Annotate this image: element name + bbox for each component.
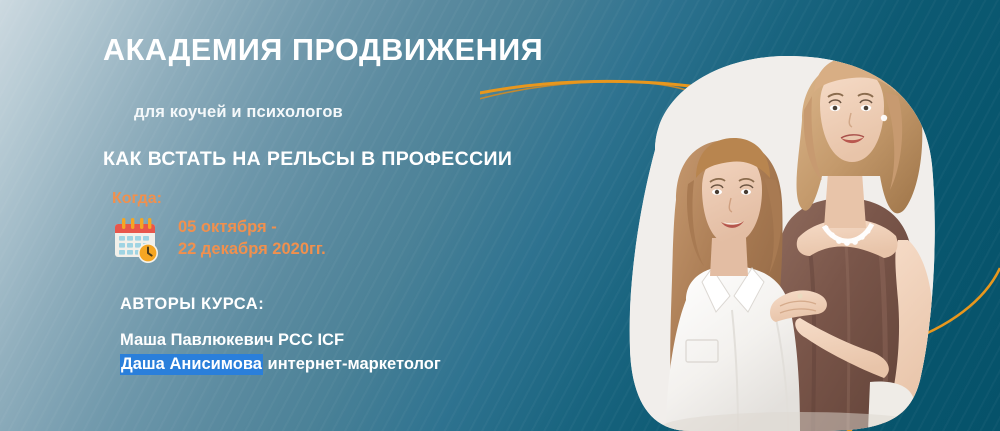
date-line-1: 05 октября -	[178, 216, 326, 238]
authors-photo	[630, 50, 950, 431]
author-item-2: Даша Анисимова интернет-маркетолог	[120, 355, 441, 374]
page-title: АКАДЕМИЯ ПРОДВИЖЕНИЯ	[103, 33, 543, 68]
calendar-clock-icon	[110, 214, 162, 266]
selected-text-highlight: Даша Анисимова	[120, 354, 263, 375]
text-column: АКАДЕМИЯ ПРОДВИЖЕНИЯ для коучей и психол…	[0, 0, 540, 431]
authors-heading: АВТОРЫ КУРСА:	[120, 295, 264, 314]
tagline: КАК ВСТАТЬ НА РЕЛЬСЫ В ПРОФЕССИИ	[103, 148, 512, 171]
when-label: Когда:	[112, 190, 162, 208]
author-item-2-role: интернет-маркетолог	[263, 355, 441, 373]
promo-banner: АКАДЕМИЯ ПРОДВИЖЕНИЯ для коучей и психол…	[0, 0, 1000, 431]
date-line-2: 22 декабря 2020гг.	[178, 238, 326, 260]
hero-artwork	[480, 0, 1000, 431]
author-item-1: Маша Павлюкевич PCC ICF	[120, 331, 344, 350]
subtitle: для коучей и психологов	[134, 103, 343, 122]
course-dates: 05 октября - 22 декабря 2020гг.	[178, 216, 326, 260]
